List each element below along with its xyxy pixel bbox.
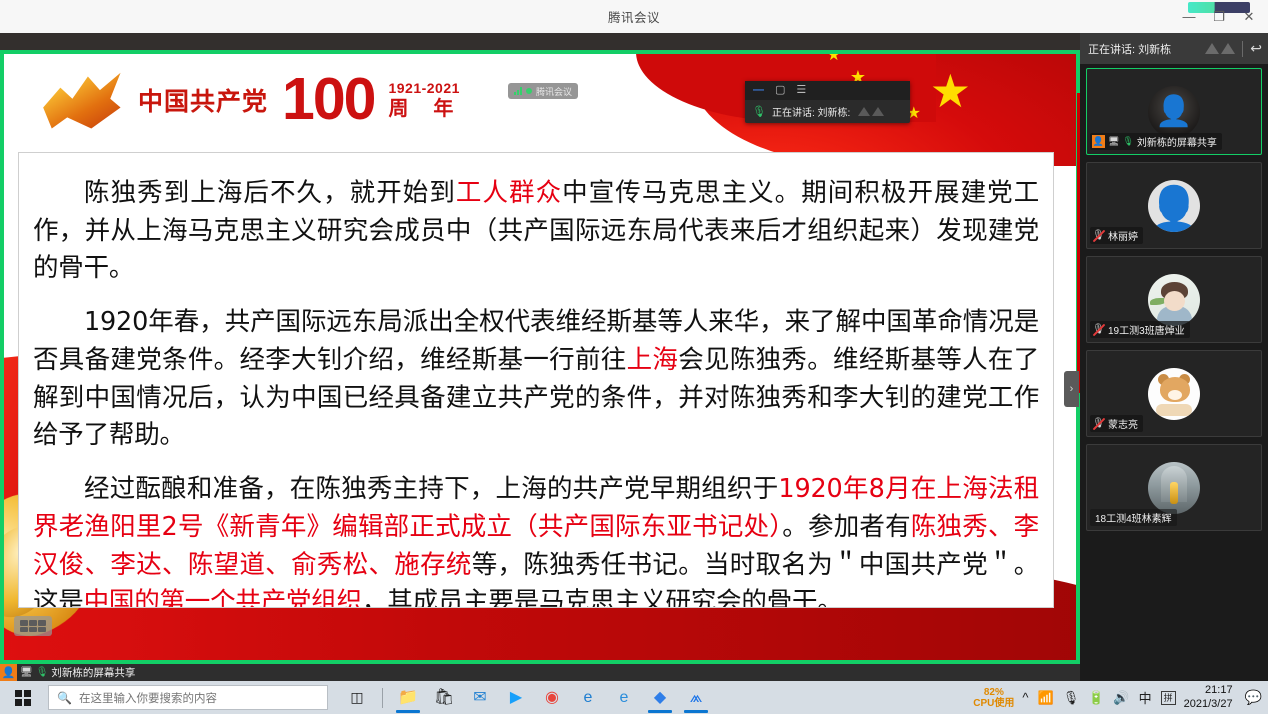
desktop-area: ★ ★ ★ ★ ★ 中国共产党 — [0, 33, 1268, 681]
text-run: 工人群众 — [456, 178, 562, 208]
party-emblem-icon — [38, 69, 124, 131]
participant-label: 18工测4班林素辉 — [1090, 509, 1177, 526]
person-glyph-icon: 👤 — [1148, 188, 1200, 232]
participant-label: 🎙蒙志亮 — [1090, 415, 1143, 432]
person-glyph-icon: 👤 — [1155, 94, 1192, 129]
search-input[interactable] — [79, 691, 319, 705]
minimize-button[interactable]: — — [1174, 2, 1204, 32]
panel-divider — [1242, 41, 1243, 57]
participant-tile[interactable]: 🎙蒙志亮 — [1086, 350, 1262, 437]
text-run: 陈独秀到上海后不久，就开始到 — [84, 178, 456, 208]
microphone-icon: 🎙 — [36, 667, 49, 678]
mail-icon[interactable]: ✉ — [463, 682, 497, 713]
file-explorer-icon[interactable]: 📁 — [391, 682, 425, 713]
meeting-mini-badge[interactable]: 腾讯会议 — [508, 83, 578, 99]
start-button[interactable] — [0, 681, 46, 714]
mute-slash — [1093, 418, 1106, 431]
shared-screen-shell: ★ ★ ★ ★ ★ 中国共产党 — [0, 33, 1080, 681]
volume-icon[interactable]: 🔊 — [1113, 690, 1129, 706]
screen-share-label: 刘新栋的屏幕共享 — [51, 665, 135, 680]
avatar — [1148, 274, 1200, 326]
party-emblem-shape — [38, 69, 124, 131]
snout-shape — [1168, 390, 1182, 400]
maximize-button[interactable]: ❐ — [1204, 2, 1234, 32]
battery-icon[interactable]: 🔋 — [1088, 690, 1104, 706]
microphone-muted-icon: 🎙 — [1092, 323, 1105, 336]
chrome-icon[interactable]: ◉ — [535, 682, 569, 713]
edge-icon[interactable]: e — [607, 682, 641, 713]
back-arrow-icon[interactable]: ↩ — [1250, 40, 1262, 57]
participant-label: 🎙林丽婷 — [1090, 227, 1143, 244]
text-run: 中国的第一个共产党组织 — [84, 587, 362, 608]
notifications-icon[interactable]: 💬 — [1241, 689, 1262, 706]
handle-dot — [38, 620, 46, 626]
microphone-icon[interactable]: 🎙 — [1063, 690, 1080, 706]
screen-share-tag: 👤 🖥 🎙 刘新栋的屏幕共享 — [0, 664, 143, 681]
participant-label: 👤🖥🎙刘新栋的屏幕共享 — [1090, 133, 1222, 150]
mute-slash — [1093, 324, 1106, 337]
panel-menu-icon[interactable]: ☰ — [796, 85, 806, 96]
slide-year-range: 1921-2021 — [388, 81, 462, 96]
participants-panel: 正在讲话: 刘新栋 ↩ 👤👤🖥🎙刘新栋的屏幕共享👤🎙林丽婷🎙19工测3班唐焯业🎙… — [1080, 33, 1268, 681]
windows-taskbar: 🔍 ◫📁🛍✉▶◉ee◆⩕ 82% CPU使用 ^ 📶 🎙 🔋 🔊 中 拼 21:… — [0, 681, 1268, 714]
floating-panel-toolbar: — ▢ ☰ — [745, 81, 910, 100]
cpu-percent: 82% — [973, 687, 1014, 698]
text-run: 上海 — [627, 345, 679, 375]
panel-collapse-handle[interactable]: › — [1064, 371, 1079, 407]
window-controls: — ❐ ✕ — [1174, 0, 1264, 33]
avatar — [1148, 368, 1200, 420]
clock-time: 21:17 — [1184, 684, 1233, 698]
screen-share-status-bar: 👤 🖥 🎙 刘新栋的屏幕共享 — [0, 664, 1080, 681]
mute-slash — [1093, 230, 1106, 243]
floating-meeting-panel[interactable]: — ▢ ☰ 🎙 正在讲话: 刘新栋: — [745, 81, 910, 123]
participant-label: 🎙19工测3班唐焯业 — [1090, 321, 1190, 338]
audio-wave-icon — [858, 107, 884, 116]
slide-paragraph-3: 经过酝酿和准备，在陈独秀主持下，上海的共产党早期组织于1920年8月在上海法租界… — [33, 471, 1039, 608]
participant-name: 蒙志亮 — [1108, 416, 1138, 431]
drag-handle-overlay[interactable] — [14, 616, 52, 636]
window-title-bar: 腾讯会议 — ❐ ✕ — [0, 0, 1268, 33]
text-run: 。参加者有 — [782, 512, 911, 542]
mini-badge-label: 腾讯会议 — [536, 85, 572, 98]
participant-name: 刘新栋的屏幕共享 — [1137, 134, 1217, 149]
microphone-muted-icon: 🎙 — [1092, 229, 1105, 242]
microphone-muted-icon: 🎙 — [1092, 417, 1105, 430]
microphone-icon[interactable]: 🎙 — [752, 105, 766, 118]
tray-icons[interactable]: ^ 📶 🎙 🔋 🔊 中 拼 — [1022, 688, 1175, 707]
slide-anniversary-number: 100 — [282, 73, 374, 126]
participants-panel-header: 正在讲话: 刘新栋 ↩ — [1080, 33, 1268, 64]
close-button[interactable]: ✕ — [1234, 2, 1264, 32]
cpu-usage-indicator: 82% CPU使用 — [973, 687, 1014, 709]
chevron-up-icon[interactable]: ^ — [1022, 690, 1028, 705]
wps-office-icon[interactable]: ◆ — [643, 682, 677, 713]
lamp-shape — [1170, 482, 1178, 504]
edge-legacy-icon[interactable]: e — [571, 682, 605, 713]
wifi-icon[interactable]: 📶 — [1038, 690, 1054, 706]
face-shape — [1164, 291, 1185, 311]
tencent-meeting-icon[interactable]: ⩕ — [679, 682, 713, 713]
person-icon: 👤 — [1092, 135, 1105, 148]
participant-name: 19工测3班唐焯业 — [1108, 322, 1185, 337]
handle-dot — [20, 627, 28, 633]
slide-paragraph-2: 1920年春，共产国际远东局派出全权代表维经斯基等人来华，来了解中国革命情况是否… — [33, 304, 1039, 455]
slide-anniversary-label: 周 年 — [388, 97, 462, 119]
floating-speaking-label: 正在讲话: 刘新栋: — [772, 104, 850, 119]
ime-mode-indicator[interactable]: 拼 — [1161, 691, 1176, 705]
screen-icon: 🖥 — [20, 667, 33, 678]
taskbar-clock[interactable]: 21:17 2021/3/27 — [1184, 684, 1233, 712]
participant-tile-list[interactable]: 👤👤🖥🎙刘新栋的屏幕共享👤🎙林丽婷🎙19工测3班唐焯业🎙蒙志亮18工测4班林素辉 — [1080, 64, 1268, 681]
audio-wave-icon — [1205, 43, 1235, 54]
slide-year-block: 1921-2021 周 年 — [388, 81, 462, 118]
person-icon: 👤 — [0, 664, 17, 681]
system-tray: 82% CPU使用 ^ 📶 🎙 🔋 🔊 中 拼 21:17 2021/3/27 … — [973, 684, 1268, 712]
avatar: 👤 — [1148, 180, 1200, 232]
signal-icon — [514, 87, 522, 95]
handle-dot — [29, 627, 37, 633]
participant-tile[interactable]: 👤👤🖥🎙刘新栋的屏幕共享 — [1086, 68, 1262, 155]
slide-party-name: 中国共产党 — [138, 82, 268, 118]
media-player-icon[interactable]: ▶ — [499, 682, 533, 713]
window-title: 腾讯会议 — [608, 7, 660, 26]
participant-name: 林丽婷 — [1108, 228, 1138, 243]
paw-shape — [1156, 404, 1192, 416]
microphone-icon: 🎙 — [1122, 136, 1133, 147]
screen-share-green-border: ★ ★ ★ ★ ★ 中国共产党 — [0, 50, 1080, 664]
windows-logo-icon — [15, 690, 31, 706]
microsoft-store-icon[interactable]: 🛍 — [427, 682, 461, 713]
slide-text-card: 陈独秀到上海后不久，就开始到工人群众中宣传马克思主义。期间积极开展建党工作，并从… — [18, 152, 1054, 608]
handle-dot — [29, 620, 37, 626]
screen-share-icon: 🖥 — [1108, 136, 1119, 147]
handle-dot — [38, 627, 46, 633]
status-dot-icon — [526, 88, 532, 94]
taskbar-divider — [382, 688, 383, 708]
taskbar-app-icons[interactable]: ◫📁🛍✉▶◉ee◆⩕ — [340, 682, 713, 713]
cpu-label: CPU使用 — [973, 698, 1014, 709]
search-icon: 🔍 — [57, 691, 72, 705]
avatar: 👤 — [1148, 86, 1200, 138]
handle-dot — [20, 620, 28, 626]
clock-date: 2021/3/27 — [1184, 698, 1233, 712]
avatar — [1148, 462, 1200, 514]
panel-speaking-label: 正在讲话: 刘新栋 — [1088, 41, 1201, 57]
text-run: ，其成员主要是马克思主义研究会的骨干。 — [362, 587, 843, 608]
task-view-icon[interactable]: ◫ — [340, 682, 374, 713]
panel-window-icon[interactable]: ▢ — [775, 85, 785, 96]
participant-name: 18工测4班林素辉 — [1095, 510, 1172, 525]
text-run: 经过酝酿和准备，在陈独秀主持下，上海的共产党早期组织于 — [84, 474, 778, 504]
slide-header: 中国共产党 100 1921-2021 周 年 — [4, 54, 1076, 146]
participant-tile[interactable]: 18工测4班林素辉 — [1086, 444, 1262, 531]
participant-tile[interactable]: 🎙19工测3班唐焯业 — [1086, 256, 1262, 343]
floating-panel-speaking-row: 🎙 正在讲话: 刘新栋: — [745, 100, 910, 123]
ppt-slide: ★ ★ ★ ★ ★ 中国共产党 — [4, 54, 1076, 660]
ime-language-indicator[interactable]: 中 — [1139, 688, 1152, 707]
panel-minimize-icon[interactable]: — — [753, 85, 764, 96]
participant-tile[interactable]: 👤🎙林丽婷 — [1086, 162, 1262, 249]
slide-paragraph-1: 陈独秀到上海后不久，就开始到工人群众中宣传马克思主义。期间积极开展建党工作，并从… — [33, 175, 1039, 288]
app-root: 腾讯会议 — ❐ ✕ ★ ★ ★ ★ ★ — [0, 0, 1268, 714]
taskbar-search-box[interactable]: 🔍 — [48, 685, 328, 710]
